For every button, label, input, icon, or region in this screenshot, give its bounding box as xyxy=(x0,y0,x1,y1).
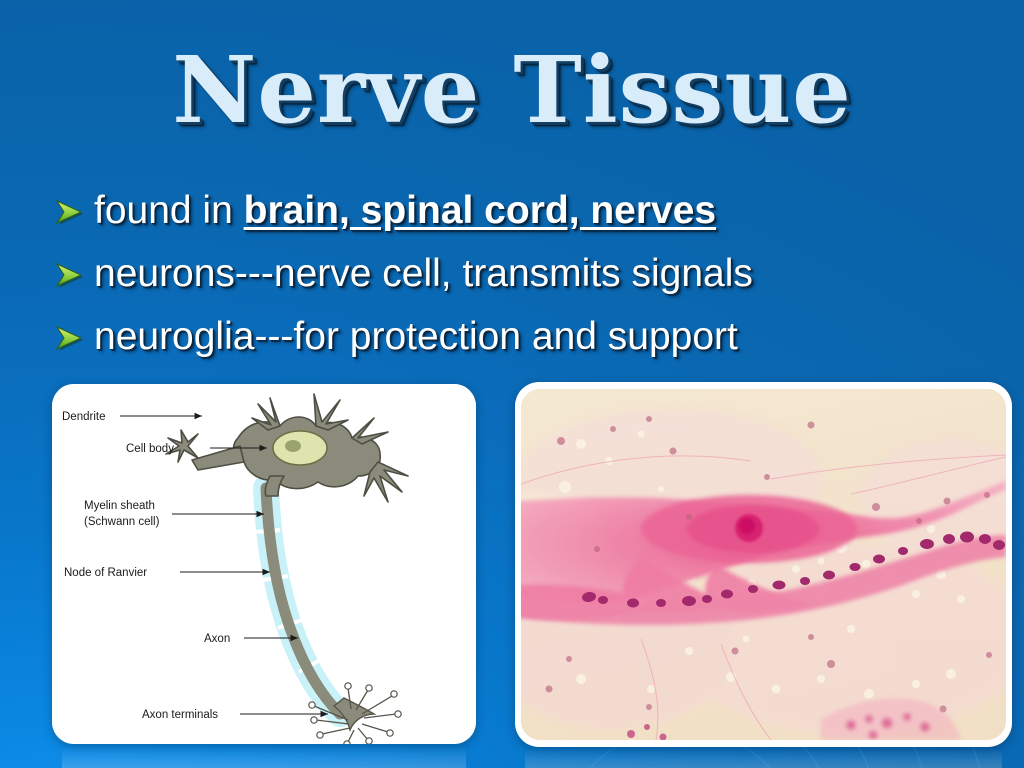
list-item-label: neurons---nerve cell, transmits signals xyxy=(94,249,753,299)
micrograph-image xyxy=(521,389,1006,740)
list-item-text-plain: found in xyxy=(94,189,244,232)
list-item: neuroglia---for protection and support xyxy=(52,312,952,368)
list-item-label: found in brain, spinal cord, nerves xyxy=(94,186,716,236)
neuron-diagram-svg: Dendrite Cell body Myelin sheath (Schwan… xyxy=(52,384,476,744)
list-item-text-plain: neuroglia---for protection and support xyxy=(94,315,738,358)
green-arrow-bullet-icon xyxy=(52,195,86,229)
diagram-label: Axon xyxy=(204,633,230,645)
bullet-list: found in brain, spinal cord, nerves neur… xyxy=(52,186,952,375)
list-item: neurons---nerve cell, transmits signals xyxy=(52,249,952,305)
nucleolus-shape xyxy=(285,440,301,452)
diagram-label: Axon terminals xyxy=(142,709,218,721)
neuron-histology-micrograph xyxy=(515,382,1012,747)
micrograph-svg xyxy=(521,389,1006,740)
diagram-label: Node of Ranvier xyxy=(64,567,147,579)
list-item-text-plain: neurons---nerve cell, transmits signals xyxy=(94,252,753,295)
neuron-structure-diagram: Dendrite Cell body Myelin sheath (Schwan… xyxy=(52,384,476,744)
diagram-reflection xyxy=(62,746,466,768)
diagram-label: Dendrite xyxy=(62,411,105,423)
green-arrow-bullet-icon xyxy=(52,321,86,355)
green-arrow-bullet-icon xyxy=(52,258,86,292)
list-item-label: neuroglia---for protection and support xyxy=(94,312,738,362)
slide-canvas: Nerve Tissue found in bra xyxy=(0,0,1024,768)
list-item: found in brain, spinal cord, nerves xyxy=(52,186,952,242)
list-item-text-emphasis: brain, spinal cord, nerves xyxy=(244,189,717,232)
diagram-label: (Schwann cell) xyxy=(84,516,160,528)
diagram-label: Myelin sheath xyxy=(84,500,155,512)
page-title: Nerve Tissue xyxy=(0,44,1024,136)
micrograph-reflection xyxy=(525,748,1002,768)
diagram-label: Cell body xyxy=(126,443,174,455)
